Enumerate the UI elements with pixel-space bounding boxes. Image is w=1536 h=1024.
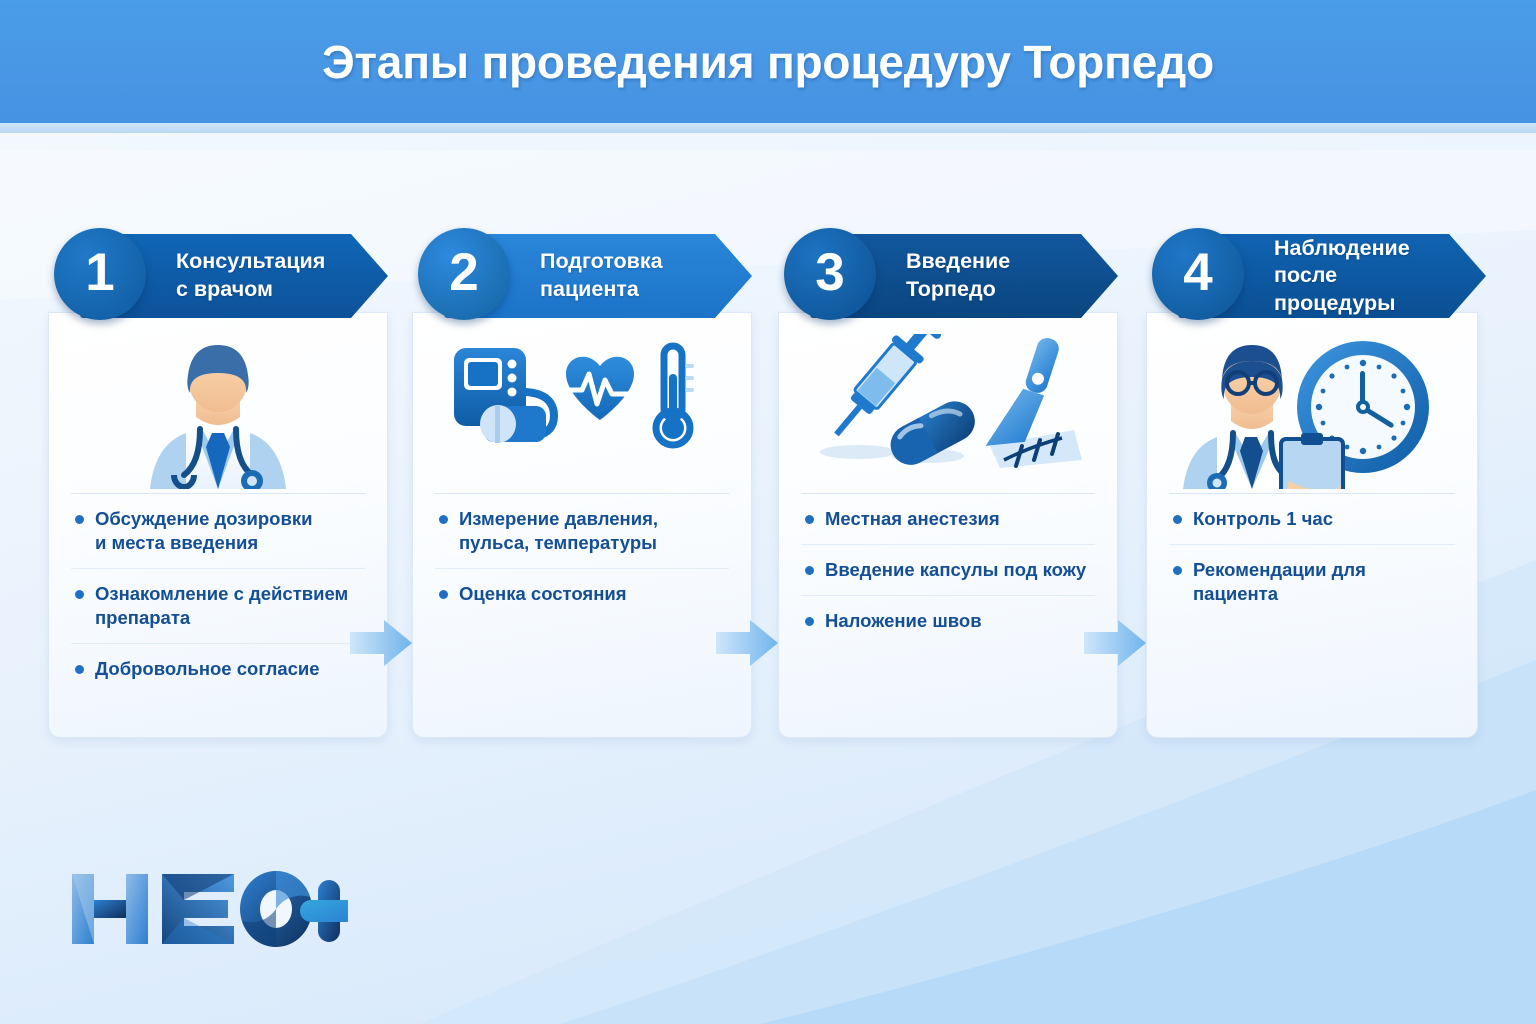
step-3-card-body: Местная анестезия Введение капсулы под к… — [778, 312, 1118, 738]
steps-container: Обсуждение дозировки и места введения Оз… — [0, 232, 1536, 742]
bullet-dot-icon — [805, 617, 814, 626]
step-2-banner: Подготовка пациента 2 — [412, 232, 752, 320]
list-item: Обсуждение дозировки и места введения — [71, 493, 365, 568]
list-item: Измерение давления, пульса, температуры — [435, 493, 729, 568]
step-card-4[interactable]: Контроль 1 час Рекомендации для пациента… — [1146, 232, 1486, 738]
step-2-title: Подготовка пациента — [540, 248, 718, 303]
logo-letter-n — [72, 874, 148, 944]
step-card-3[interactable]: Местная анестезия Введение капсулы под к… — [778, 232, 1118, 738]
step-2-bullets: Измерение давления, пульса, температуры … — [413, 493, 751, 619]
step-4-number: 4 — [1183, 246, 1212, 299]
page-header: Этапы проведения процедуру Торпедо — [0, 0, 1536, 123]
doctor-consultation-icon — [49, 313, 387, 493]
list-item: Добровольное согласие — [71, 643, 365, 694]
step-1-title: Консультация с врачом — [176, 248, 354, 303]
step-3-title: Введение Торпедо — [906, 248, 1084, 303]
brand-logo — [68, 866, 348, 952]
step-2-number-badge: 2 — [418, 228, 510, 320]
step-2-number: 2 — [449, 246, 478, 299]
step-2-card-body: Измерение давления, пульса, температуры … — [412, 312, 752, 738]
bullet-dot-icon — [439, 515, 448, 524]
step-1-bullets: Обсуждение дозировки и места введения Оз… — [49, 493, 387, 694]
step-3-number: 3 — [815, 246, 844, 299]
bullet-dot-icon — [1173, 515, 1182, 524]
logo-letter-e — [162, 874, 234, 944]
bullet-dot-icon — [805, 566, 814, 575]
bullet-text: Добровольное согласие — [95, 657, 320, 681]
step-1-card-body: Обсуждение дозировки и места введения Оз… — [48, 312, 388, 738]
step-4-banner: Наблюдение после процедуры 4 — [1146, 232, 1478, 320]
doctor-clock-observation-icon — [1147, 313, 1477, 493]
implant-procedure-icon — [779, 313, 1117, 493]
bullet-dot-icon — [805, 515, 814, 524]
bullet-dot-icon — [75, 590, 84, 599]
logo-plus-icon — [300, 880, 348, 942]
step-4-bullets: Контроль 1 час Рекомендации для пациента — [1147, 493, 1477, 619]
step-card-1[interactable]: Обсуждение дозировки и места введения Оз… — [48, 232, 388, 738]
step-4-number-badge: 4 — [1152, 228, 1244, 320]
step-1-number: 1 — [85, 246, 114, 299]
list-item: Местная анестезия — [801, 493, 1095, 544]
bullet-text: Контроль 1 час — [1193, 507, 1333, 531]
bullet-dot-icon — [75, 515, 84, 524]
bullet-text: Оценка состояния — [459, 582, 627, 606]
list-item: Контроль 1 час — [1169, 493, 1455, 544]
step-3-bullets: Местная анестезия Введение капсулы под к… — [779, 493, 1117, 646]
arrow-step2-to-step3 — [716, 618, 778, 668]
step-1-number-badge: 1 — [54, 228, 146, 320]
bullet-text: Наложение швов — [825, 609, 982, 633]
bullet-text: Обсуждение дозировки и места введения — [95, 507, 312, 555]
bullet-text: Местная анестезия — [825, 507, 1000, 531]
step-1-banner: Консультация с врачом 1 — [48, 232, 388, 320]
step-card-2[interactable]: Измерение давления, пульса, температуры … — [412, 232, 752, 738]
step-4-title: Наблюдение после процедуры — [1274, 235, 1452, 318]
step-3-number-badge: 3 — [784, 228, 876, 320]
list-item: Наложение швов — [801, 595, 1095, 646]
list-item: Ознакомление с действием препарата — [71, 568, 365, 643]
list-item: Оценка состояния — [435, 568, 729, 619]
list-item: Рекомендации для пациента — [1169, 544, 1455, 619]
list-item: Введение капсулы под кожу — [801, 544, 1095, 595]
arrow-step1-to-step2 — [350, 618, 412, 668]
bullet-text: Измерение давления, пульса, температуры — [459, 507, 658, 555]
bullet-text: Введение капсулы под кожу — [825, 558, 1086, 582]
step-4-card-body: Контроль 1 час Рекомендации для пациента — [1146, 312, 1478, 738]
bullet-dot-icon — [75, 665, 84, 674]
bullet-text: Рекомендации для пациента — [1193, 558, 1453, 606]
page-title: Этапы проведения процедуру Торпедо — [322, 35, 1214, 89]
step-3-banner: Введение Торпедо 3 — [778, 232, 1118, 320]
arrow-step3-to-step4 — [1084, 618, 1146, 668]
header-accent-bar — [0, 123, 1536, 133]
bullet-text: Ознакомление с действием препарата — [95, 582, 348, 630]
bullet-dot-icon — [439, 590, 448, 599]
bullet-dot-icon — [1173, 566, 1182, 575]
vitals-monitoring-icon — [413, 313, 751, 493]
